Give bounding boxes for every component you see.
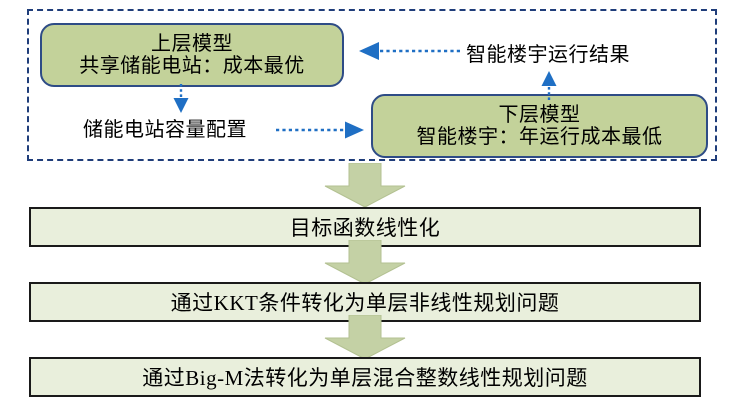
arrow-lower-to-result-icon — [536, 68, 562, 100]
arrow-capacity-to-lower-icon — [276, 116, 370, 144]
capacity-flow-label: 储能电站容量配置 — [83, 113, 247, 142]
process-step-2-label: 通过KKT条件转化为单层非线性规划问题 — [171, 287, 560, 317]
block-arrow-to-step2-icon — [323, 240, 407, 285]
lower-model-line1: 下层模型 — [499, 104, 581, 126]
arrow-result-to-upper-icon — [356, 38, 460, 64]
diagram-canvas: 上层模型 共享储能电站：成本最优 下层模型 智能楼宇：年运行成本最低 智能楼宇运… — [0, 0, 730, 417]
upper-model-line1: 上层模型 — [151, 33, 233, 55]
process-step-3: 通过Big-M法转化为单层混合整数线性规划问题 — [29, 357, 701, 397]
lower-model-box: 下层模型 智能楼宇：年运行成本最低 — [371, 94, 708, 158]
process-step-3-label: 通过Big-M法转化为单层混合整数线性规划问题 — [142, 362, 588, 392]
upper-model-line2: 共享储能电站：成本最优 — [79, 55, 305, 77]
result-flow-label: 智能楼宇运行结果 — [466, 38, 630, 67]
process-step-1-label: 目标函数线性化 — [290, 212, 441, 242]
arrow-upper-to-capacity-icon — [160, 84, 204, 116]
lower-model-line2: 智能楼宇：年运行成本最低 — [417, 126, 663, 148]
block-arrow-to-step1-icon — [323, 163, 407, 208]
block-arrow-to-step3-icon — [323, 315, 407, 360]
upper-model-box: 上层模型 共享储能电站：成本最优 — [40, 23, 344, 87]
